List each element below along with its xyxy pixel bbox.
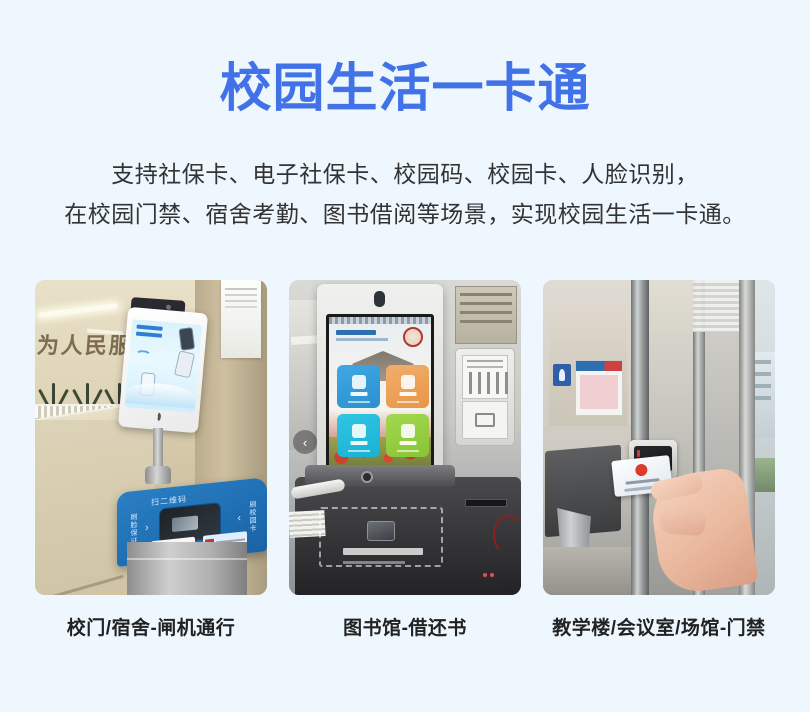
indoor-area [543, 280, 639, 595]
tile-search[interactable] [337, 414, 380, 457]
zone-sublabel [343, 561, 405, 564]
screen-headline-bar [137, 325, 163, 331]
book-icon [367, 521, 395, 541]
feature-card-gate[interactable]: 为人民服务 [35, 280, 267, 640]
library-logo-subtext [336, 338, 388, 341]
deck-button[interactable] [361, 471, 373, 483]
receipt-slot [465, 499, 507, 507]
card-caption: 图书馆-借还书 [289, 613, 521, 640]
promo-page: 校园生活一卡通 支持社保卡、电子社保卡、校园码、校园卡、人脸识别， 在校园门禁、… [0, 0, 810, 712]
book-placement-zone[interactable] [319, 507, 443, 567]
subtitle-line-1: 支持社保卡、电子社保卡、校园码、校园卡、人脸识别， [0, 154, 810, 194]
status-led-icon [483, 573, 487, 577]
nfc-icon [144, 409, 167, 425]
restroom-sign-icon [553, 364, 571, 386]
tile-borrow[interactable] [337, 365, 380, 408]
library-kiosk-photo: ‹ [289, 280, 521, 595]
panel-instructions [462, 355, 508, 399]
feature-card-library[interactable]: ‹ [289, 280, 521, 640]
red-cable [493, 515, 521, 555]
arrow-left-icon: ‹ [237, 512, 241, 524]
phone-illustration [179, 327, 196, 351]
signal-wave-icon [135, 350, 152, 361]
subtitle-line-2: 在校园门禁、宿舍考勤、图书借阅等场景，实现校园生活一卡通。 [0, 194, 810, 234]
arrow-right-icon: › [145, 522, 149, 534]
terminal-screen[interactable] [125, 319, 202, 413]
feature-card-door[interactable]: 教学楼/会议室/场馆-门禁 [543, 280, 775, 640]
self-service-kiosk[interactable] [317, 284, 443, 480]
face-verify-label: 刷脸保证 [129, 513, 138, 546]
feature-card-row: 为人民服务 [35, 280, 775, 640]
national-emblem-icon [635, 463, 648, 476]
book-deck[interactable] [295, 477, 521, 595]
door-frame [631, 280, 649, 595]
floor-line [35, 575, 124, 595]
university-seal-icon [403, 327, 423, 347]
tile-return[interactable] [386, 365, 429, 408]
page-title: 校园生活一卡通 [0, 58, 810, 120]
face-recognition-terminal[interactable] [118, 307, 208, 434]
library-logo-text [336, 330, 376, 335]
screen-wave-graphic [125, 381, 197, 409]
bookshelf [455, 286, 517, 344]
chevron-left-icon[interactable]: ‹ [293, 430, 317, 454]
card-caption: 校门/宿舍-闸机通行 [35, 613, 267, 640]
phone-illustration [174, 350, 195, 378]
reader-led-icon [637, 450, 640, 457]
turnstile-body [127, 542, 247, 595]
wall-poster [575, 360, 623, 416]
terminal-base [145, 466, 171, 484]
zone-label [343, 548, 423, 555]
wall-info-panel [455, 348, 515, 446]
kiosk-touchscreen[interactable] [326, 314, 434, 474]
panel-card-reader[interactable] [462, 401, 508, 439]
indoor-floor [543, 547, 639, 595]
card-caption: 教学楼/会议室/场馆-门禁 [543, 613, 775, 640]
door-access-photo [543, 280, 775, 595]
poster-body [580, 375, 618, 409]
screen-top-bar [329, 317, 431, 324]
wall-notice-paper [221, 280, 261, 358]
gate-turnstile-photo: 为人民服务 [35, 280, 267, 595]
kiosk-camera-icon [374, 291, 385, 307]
kiosk-menu-tiles [337, 365, 429, 457]
campus-card-label: 刷校园卡 [248, 500, 257, 533]
page-subtitle: 支持社保卡、电子社保卡、校园码、校园卡、人脸识别， 在校园门禁、宿舍考勤、图书借… [0, 154, 810, 234]
poster-header [576, 361, 622, 371]
tile-account[interactable] [386, 414, 429, 457]
thumb [659, 507, 707, 536]
